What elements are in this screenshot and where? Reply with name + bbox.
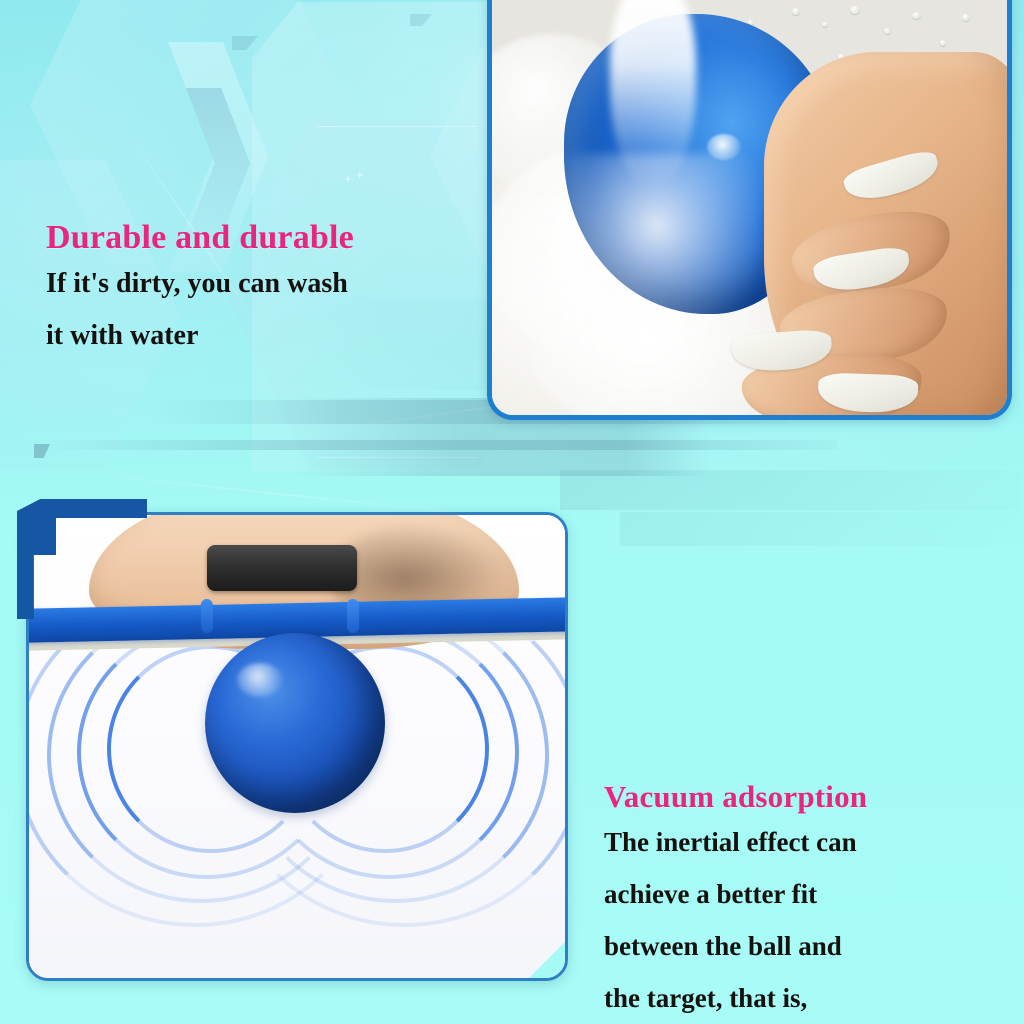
strap-loop xyxy=(347,599,360,633)
blue-suction-ball-highlight xyxy=(237,663,283,697)
infographic-poster: + + + + xyxy=(0,0,1024,1024)
water-droplet xyxy=(792,8,800,15)
washing-ball-photo xyxy=(487,0,1012,420)
feature-body-line: The inertial effect can xyxy=(604,816,867,868)
vacuum-suction-photo xyxy=(26,512,568,981)
feature-heading-vacuum: Vacuum adsorption xyxy=(604,778,867,816)
background-streak-5 xyxy=(620,512,1024,546)
feature-body-line: between the ball and xyxy=(604,920,867,972)
water-droplet xyxy=(940,40,946,46)
strap-loop xyxy=(201,599,214,633)
vacuum-suction-photo-inner xyxy=(29,515,565,978)
feature-body-line: it with water xyxy=(46,310,354,362)
sparkle-icon-4: + xyxy=(344,172,352,185)
water-droplet xyxy=(884,28,891,34)
water-droplet xyxy=(822,22,828,27)
blue-suction-ball xyxy=(205,633,385,813)
water-droplet xyxy=(962,14,970,21)
water-droplet xyxy=(912,12,921,19)
feature-body-line: If it's dirty, you can wash xyxy=(46,258,354,310)
feature-body-line: the target, that is, xyxy=(604,972,867,1024)
black-clip xyxy=(207,545,357,591)
feature-block-vacuum: Vacuum adsorption The inertial effect ca… xyxy=(604,778,867,1024)
sparkle-icon-3: + xyxy=(356,168,364,181)
water-droplet xyxy=(850,6,860,14)
feature-body-line: achieve a better fit xyxy=(604,868,867,920)
washing-ball-photo-inner xyxy=(492,0,1007,415)
background-streak-2 xyxy=(38,440,838,450)
feature-heading-durable: Durable and durable xyxy=(46,218,354,258)
background-streak-4 xyxy=(560,470,1020,510)
feature-block-durable: Durable and durable If it's dirty, you c… xyxy=(46,218,354,362)
